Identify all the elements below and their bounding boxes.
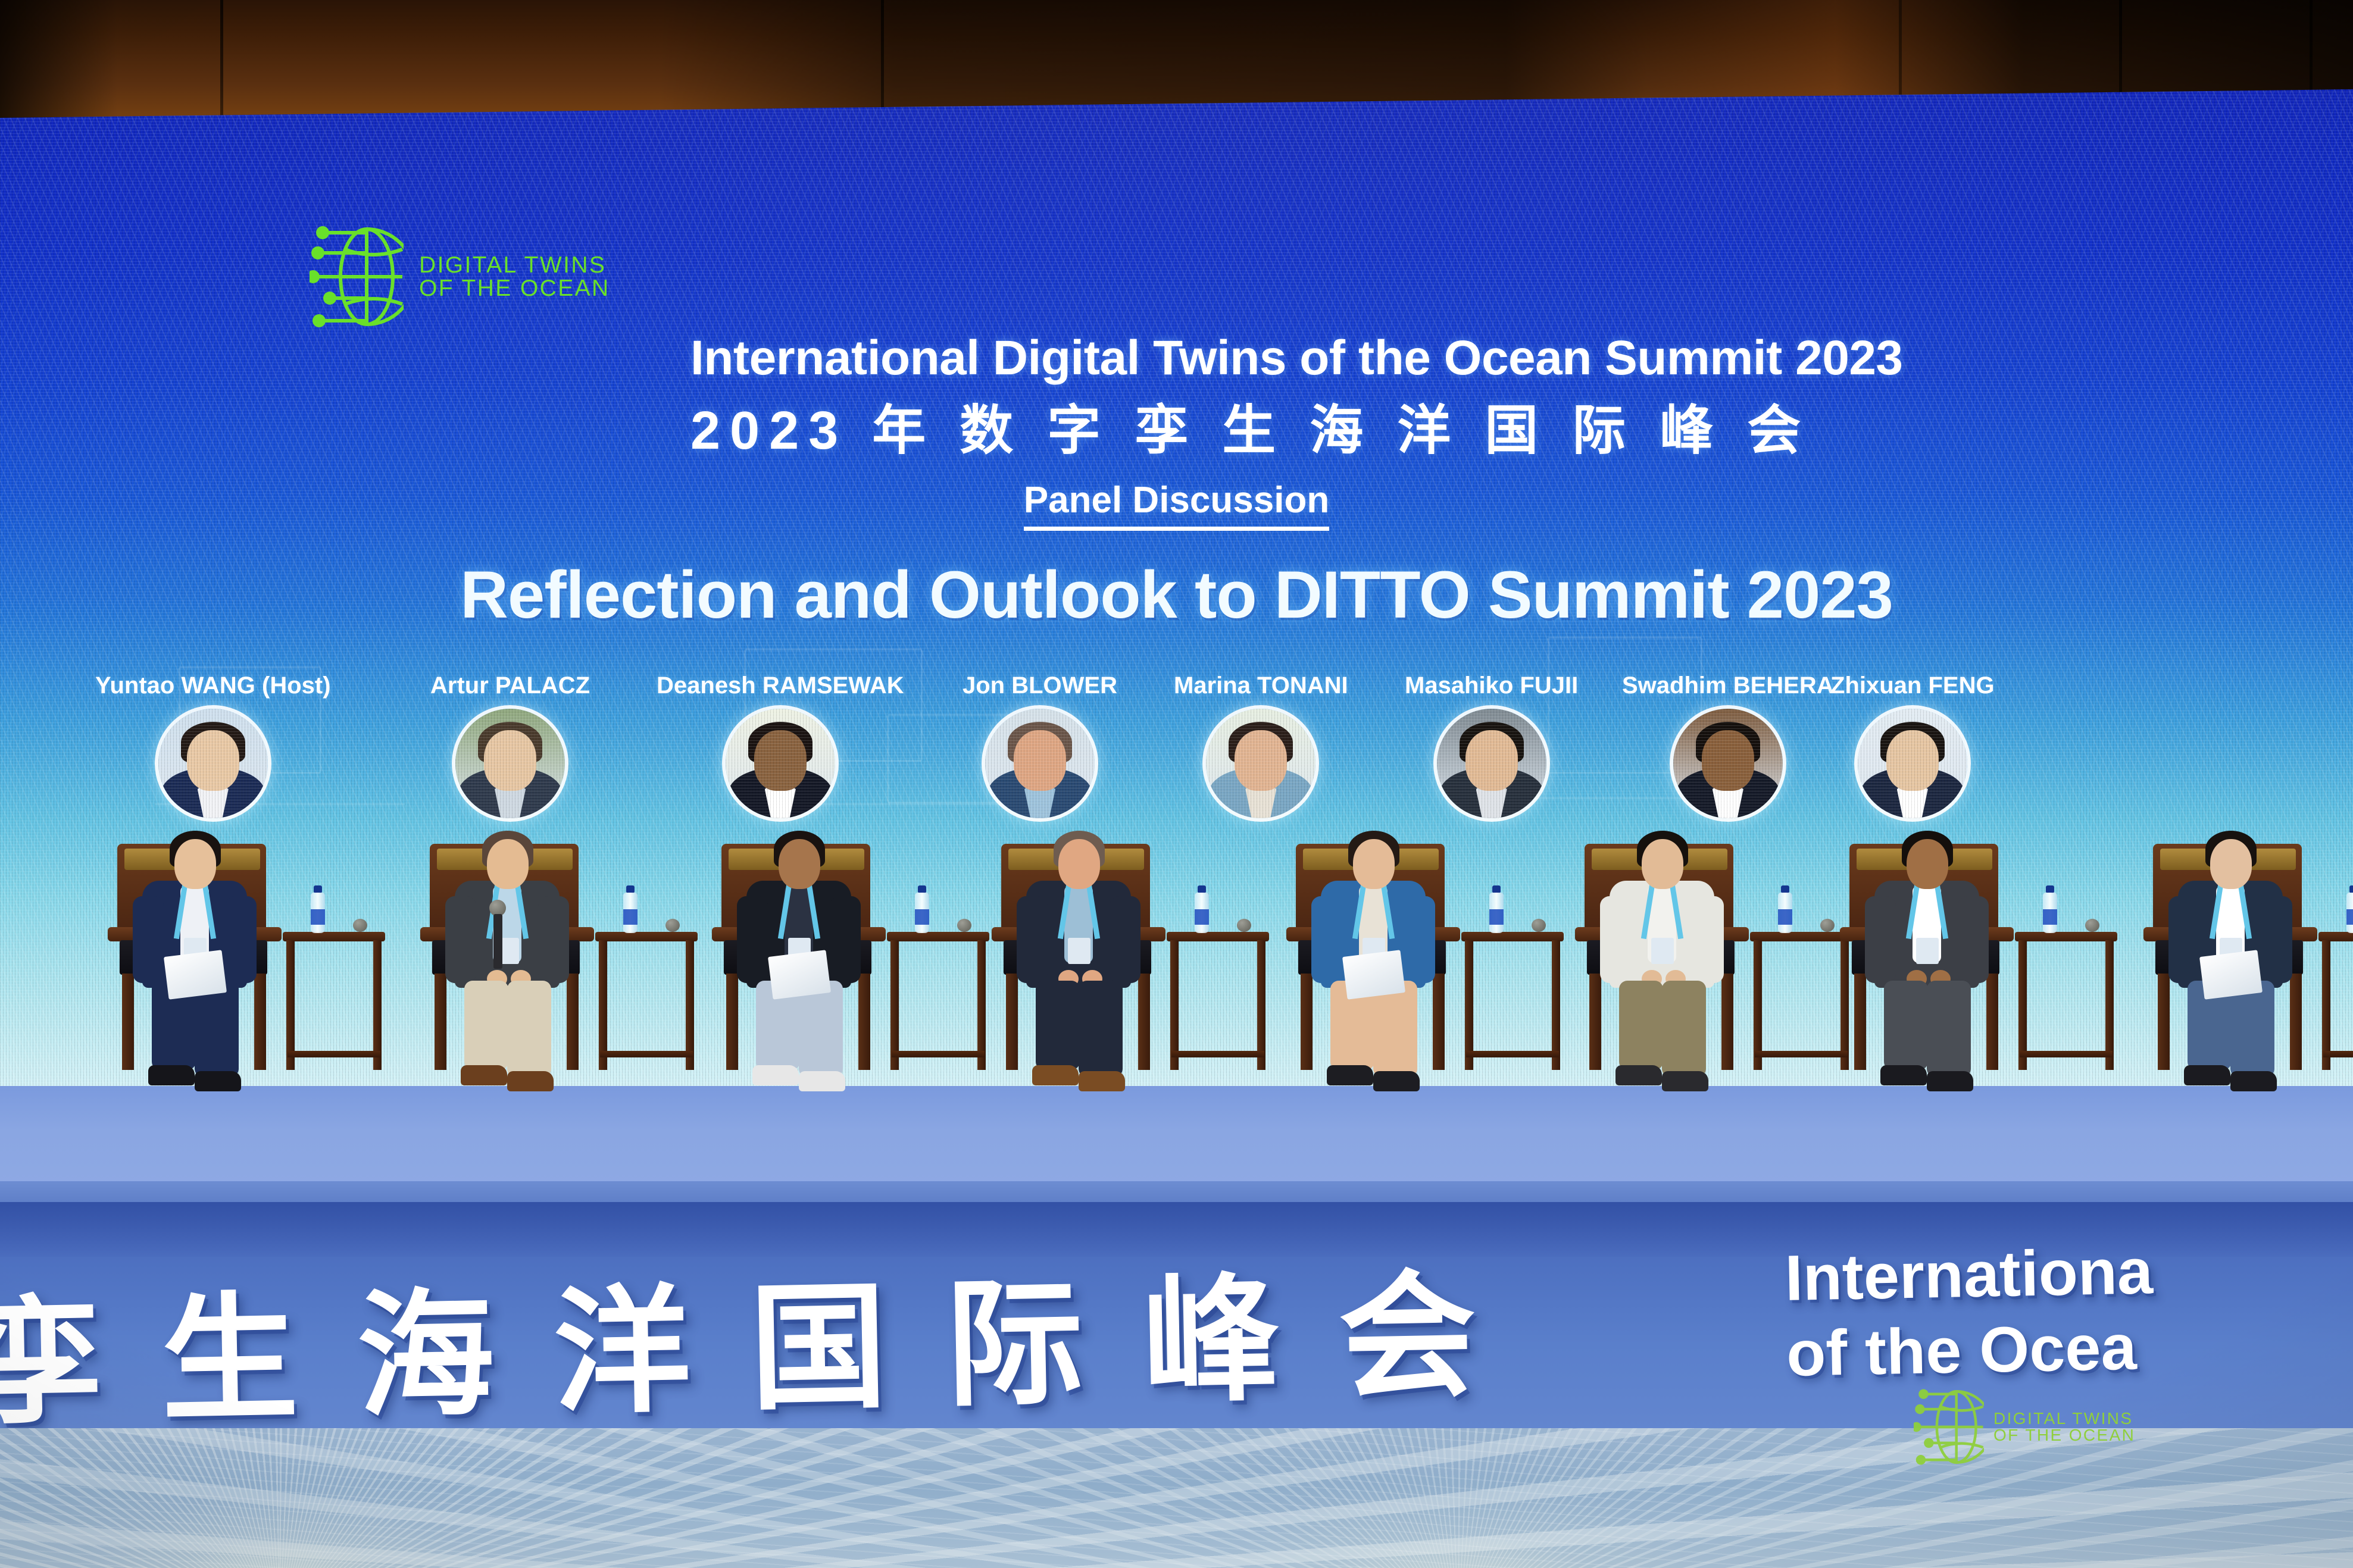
water-bottle bbox=[1776, 885, 1794, 933]
water-bottle bbox=[1488, 885, 1505, 933]
name-badge bbox=[1068, 938, 1090, 964]
side-table bbox=[2015, 932, 2117, 1072]
table-microphone bbox=[2085, 919, 2099, 933]
water-bottle bbox=[2041, 885, 2059, 933]
globe-network-icon bbox=[310, 223, 404, 330]
person-figure bbox=[1836, 791, 2015, 1101]
panelist-name: Swadhim BEHERA bbox=[1622, 672, 1834, 699]
side-table bbox=[283, 932, 385, 1072]
table-microphone bbox=[665, 919, 680, 933]
summit-title-en: International Digital Twins of the Ocean… bbox=[690, 330, 1929, 386]
seated-panelist bbox=[1283, 791, 1479, 1101]
panelist-name: Jon BLOWER bbox=[963, 672, 1117, 699]
side-table bbox=[887, 932, 989, 1072]
ditto-logo-group: DIGITAL TWINS OF THE OCEAN bbox=[310, 223, 613, 330]
session-label: Panel Discussion bbox=[0, 479, 2353, 521]
banner-ditto-logo-group: DIGITAL TWINS OF THE OCEAN bbox=[1914, 1387, 2138, 1467]
water-bottle bbox=[1193, 885, 1211, 933]
seated-panelist bbox=[708, 791, 905, 1101]
panelist-name: Zhixuan FENG bbox=[1830, 672, 1995, 699]
table-microphone bbox=[957, 919, 971, 933]
seated-panelist bbox=[988, 791, 1185, 1101]
globe-network-icon-banner bbox=[1914, 1387, 1984, 1467]
table-microphone bbox=[353, 919, 367, 933]
session-title: Reflection and Outlook to DITTO Summit 2… bbox=[0, 556, 2353, 633]
table-microphone bbox=[1237, 919, 1251, 933]
banner-text-cn: 孪 生 海 洋 国 际 峰 会 bbox=[0, 1224, 1488, 1431]
person-figure bbox=[417, 791, 595, 1101]
paper-sheet bbox=[768, 950, 831, 999]
logo-line-1: DIGITAL TWINS bbox=[419, 253, 613, 277]
seated-panelist bbox=[417, 791, 613, 1101]
panelist-name: Yuntao WANG (Host) bbox=[95, 672, 331, 699]
panelist-name: Masahiko FUJII bbox=[1405, 672, 1578, 699]
person-figure bbox=[1283, 791, 1461, 1101]
side-table bbox=[1167, 932, 1269, 1072]
panelist-name: Artur PALACZ bbox=[430, 672, 590, 699]
panelist-name: Marina TONANI bbox=[1174, 672, 1348, 699]
seated-panelist bbox=[1571, 791, 1768, 1101]
person-figure bbox=[2140, 791, 2318, 1101]
handheld-microphone bbox=[489, 900, 506, 970]
person-figure bbox=[104, 791, 283, 1101]
water-bottle bbox=[309, 885, 327, 933]
person-figure bbox=[1571, 791, 1750, 1101]
paper-sheet bbox=[1342, 950, 1405, 999]
banner-en-line2: of the Ocea bbox=[1786, 1309, 2155, 1392]
banner-en-line1: Internationa bbox=[1785, 1233, 2154, 1316]
panelist-name: Deanesh RAMSEWAK bbox=[657, 672, 904, 699]
seated-panelist bbox=[2140, 791, 2336, 1101]
table-microphone bbox=[1820, 919, 1835, 933]
banner-text-en: Internationa of the Ocea bbox=[1785, 1233, 2155, 1392]
side-table bbox=[595, 932, 698, 1072]
conference-photo: DIGITAL TWINS OF THE OCEAN International… bbox=[0, 0, 2353, 1568]
name-badge bbox=[1916, 938, 1939, 964]
side-table bbox=[2318, 932, 2353, 1072]
seated-panelist bbox=[104, 791, 301, 1101]
person-figure bbox=[708, 791, 887, 1101]
banner-logo-line-2: OF THE OCEAN bbox=[1993, 1427, 2138, 1444]
water-bottle bbox=[913, 885, 931, 933]
water-bottle bbox=[2345, 885, 2353, 933]
summit-title-cn: 2023 年 数 字 孪 生 海 洋 国 际 峰 会 bbox=[690, 387, 1929, 464]
logo-line-2: OF THE OCEAN bbox=[419, 277, 613, 300]
table-microphone bbox=[1532, 919, 1546, 933]
banner-logo-line-1: DIGITAL TWINS bbox=[1993, 1410, 2138, 1427]
name-badge bbox=[1651, 938, 1674, 964]
seated-panelist bbox=[1836, 791, 2033, 1101]
paper-sheet bbox=[164, 950, 227, 999]
paper-sheet bbox=[2199, 950, 2263, 999]
side-table bbox=[1461, 932, 1564, 1072]
water-bottle bbox=[621, 885, 639, 933]
person-figure bbox=[988, 791, 1167, 1101]
stage-floor-edge bbox=[0, 1181, 2353, 1203]
